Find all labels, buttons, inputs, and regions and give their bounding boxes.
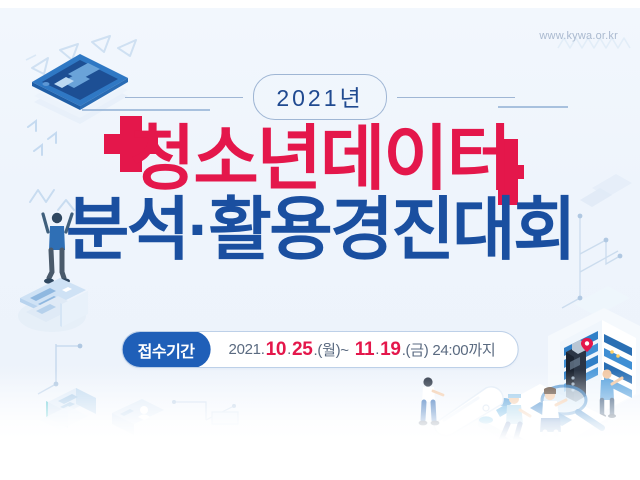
date-end-month: 11: [354, 339, 376, 361]
promo-banner: www.kywa.or.kr 2021년 청소년데이터 분석·활용경진대회 접수…: [0, 8, 640, 440]
date-end-suffix: .(금) 24:00까지: [402, 339, 496, 360]
date-end-day: 19: [379, 339, 402, 361]
headline-line-1: 청소년데이터: [0, 126, 640, 193]
isometric-desk-monitor-icon: [12, 260, 102, 340]
date-start-day: 25: [291, 339, 314, 361]
year-rule-left: [125, 97, 243, 98]
isometric-platform-icon: [468, 376, 618, 440]
wireframe-panel-icon: [168, 390, 244, 438]
network-pole-icon: [24, 340, 94, 406]
isometric-card-panel-icon: [34, 366, 120, 436]
date-prefix: 2021.: [229, 341, 265, 358]
date-start-month: 10: [265, 339, 288, 361]
person-seated-icon: [496, 390, 536, 440]
year-rule-right: [397, 97, 515, 98]
headline: 청소년데이터 분석·활용경진대회: [0, 126, 640, 263]
year-badge-row: 2021년: [0, 74, 640, 120]
site-url[interactable]: www.kywa.or.kr: [539, 30, 618, 42]
marker-dot-icon: [578, 336, 596, 354]
magnifier-icon: [534, 378, 608, 440]
date-start-suffix: .(월)~: [314, 339, 349, 360]
application-period-text: 2021. 10 . 25 .(월)~ 11 . 19 .(금) 24:00까지: [211, 332, 518, 367]
application-period-tag: 접수기간: [122, 331, 211, 368]
isometric-server-rack-icon: [540, 308, 640, 438]
year-badge: 2021년: [253, 74, 386, 120]
capsule-object-icon: [424, 380, 514, 436]
isometric-user-card-icon: [108, 393, 188, 440]
bottom-fade: [0, 370, 640, 440]
person-standing-blue-icon: [414, 374, 446, 432]
application-period-bar: 접수기간 2021. 10 . 25 .(월)~ 11 . 19 .(금) 24…: [122, 331, 519, 368]
person-with-magnifier-icon: [532, 386, 572, 440]
person-technician-icon: [592, 366, 626, 420]
usb-drive-icon: [556, 344, 590, 418]
screenshot-root: www.kywa.or.kr 2021년 청소년데이터 분석·활용경진대회 접수…: [0, 0, 640, 480]
headline-line-2: 분석·활용경진대회: [0, 197, 640, 263]
